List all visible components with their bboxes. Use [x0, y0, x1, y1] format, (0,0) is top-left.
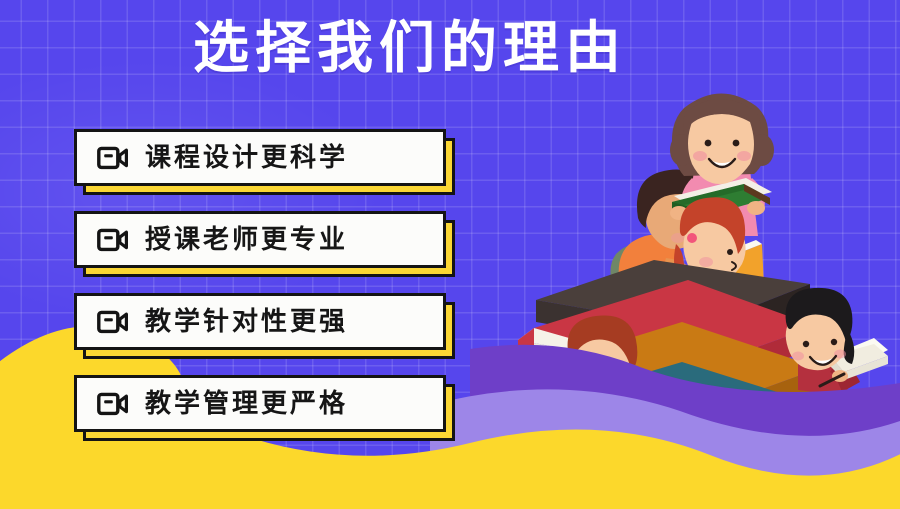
feature-label: 授课老师更专业	[145, 227, 348, 253]
feature-box[interactable]: 教学管理更严格	[74, 375, 446, 432]
feature-box[interactable]: 教学针对性更强	[74, 293, 446, 350]
page-title: 选择我们的理由	[0, 18, 820, 80]
feature-list: 课程设计更科学 授课老师更专业 教学	[74, 129, 446, 457]
video-camera-icon	[97, 146, 129, 170]
feature-box[interactable]: 授课老师更专业	[74, 211, 446, 268]
video-camera-icon	[97, 228, 129, 252]
video-camera-icon	[97, 392, 129, 416]
feature-label: 教学管理更严格	[145, 391, 348, 417]
feature-item-2[interactable]: 授课老师更专业	[74, 211, 446, 268]
video-camera-icon	[97, 310, 129, 334]
feature-box[interactable]: 课程设计更科学	[74, 129, 446, 186]
feature-label: 课程设计更科学	[145, 145, 348, 171]
feature-item-4[interactable]: 教学管理更严格	[74, 375, 446, 432]
feature-item-1[interactable]: 课程设计更科学	[74, 129, 446, 186]
feature-label: 教学针对性更强	[145, 309, 348, 335]
feature-item-3[interactable]: 教学针对性更强	[74, 293, 446, 350]
poster-canvas: 选择我们的理由 课程设计更科学 授课老师更专业	[0, 0, 900, 509]
